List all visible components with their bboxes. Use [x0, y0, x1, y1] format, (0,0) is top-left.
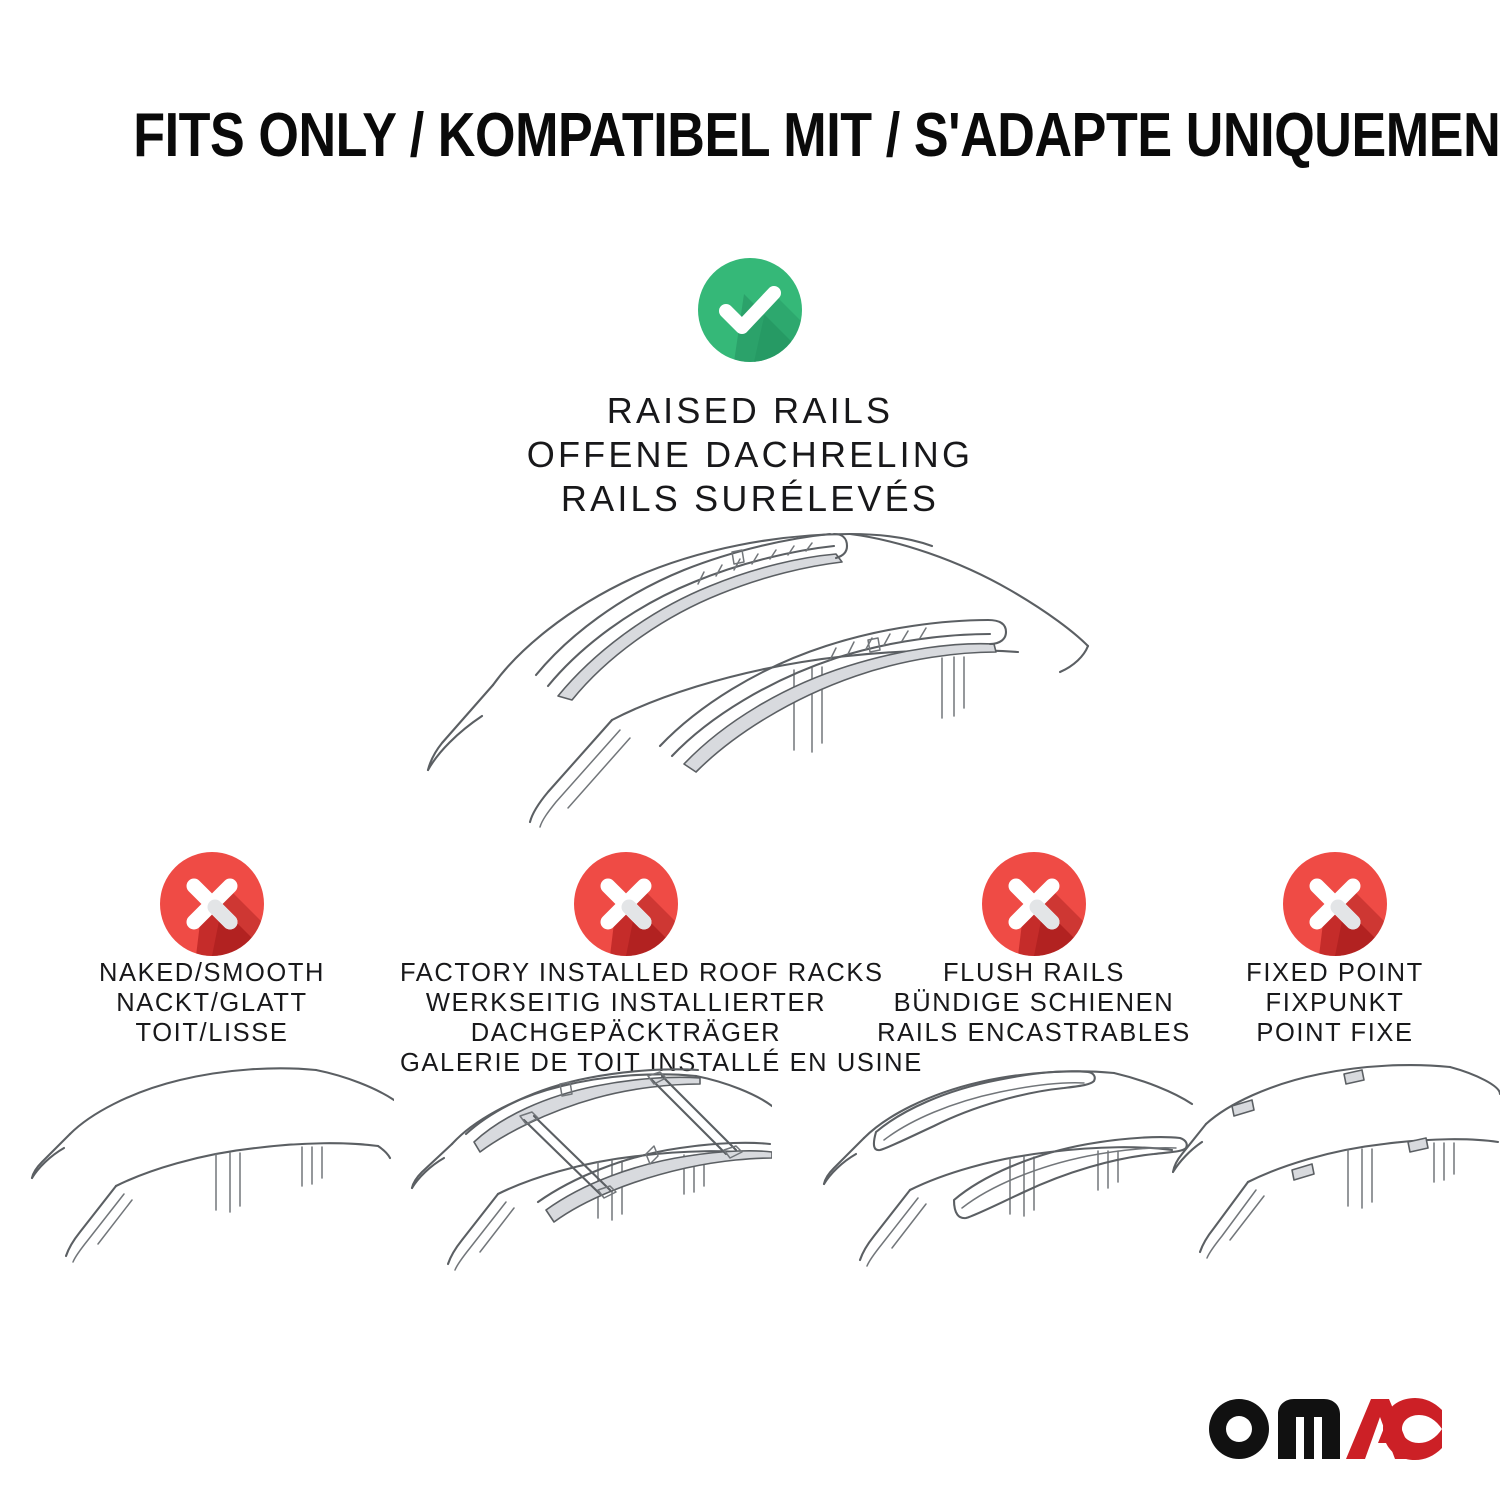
incompatible-item-fixed-point: FIXED POINT FIXPUNKT POINT FIXE — [1160, 852, 1500, 1048]
factory-racks-illustration — [408, 1058, 772, 1288]
omac-logo — [1206, 1396, 1442, 1462]
omac-logo-mark — [1206, 1396, 1442, 1462]
cross-mark-glyph — [982, 852, 1086, 956]
label-line: WERKSEITIG INSTALLIERTER — [400, 988, 852, 1018]
cross-circle-icon — [574, 852, 678, 956]
cross-icon-wrap-4 — [1160, 852, 1500, 948]
cross-mark-glyph — [160, 852, 264, 956]
label-line: FACTORY INSTALLED ROOF RACKS — [400, 958, 852, 988]
label-line: FIXED POINT — [1160, 958, 1500, 988]
label-line: NACKT/GLATT — [32, 988, 392, 1018]
cross-icon-wrap-1 — [32, 852, 392, 948]
label-line: NAKED/SMOOTH — [32, 958, 392, 988]
cross-icon-wrap-2 — [400, 852, 852, 948]
label-line: FIXPUNKT — [1160, 988, 1500, 1018]
page-title-text: FITS ONLY / KOMPATIBEL MIT / S'ADAPTE UN… — [133, 104, 1500, 168]
flush-rails-illustration — [812, 1058, 1212, 1288]
page-title: FITS ONLY / KOMPATIBEL MIT / S'ADAPTE UN… — [0, 104, 1500, 168]
cross-mark-glyph — [1283, 852, 1387, 956]
check-mark-glyph — [698, 258, 802, 362]
compatible-label-de: OFFENE DACHRELING — [0, 433, 1500, 477]
naked-smooth-illustration — [30, 1058, 394, 1288]
check-circle-icon — [698, 258, 802, 362]
raised-rails-illustration — [398, 500, 1102, 830]
cross-circle-icon — [982, 852, 1086, 956]
incompatible-label-naked-smooth: NAKED/SMOOTH NACKT/GLATT TOIT/LISSE — [32, 958, 392, 1048]
fixed-point-illustration — [1172, 1058, 1500, 1288]
incompatible-item-naked-smooth: NAKED/SMOOTH NACKT/GLATT TOIT/LISSE — [32, 852, 392, 1048]
cross-circle-icon — [160, 852, 264, 956]
cross-mark-glyph — [574, 852, 678, 956]
incompatible-label-fixed-point: FIXED POINT FIXPUNKT POINT FIXE — [1160, 958, 1500, 1048]
incompatible-item-factory-racks: FACTORY INSTALLED ROOF RACKS WERKSEITIG … — [400, 852, 852, 1078]
label-line: DACHGEPÄCKTRÄGER — [400, 1018, 852, 1048]
label-line: TOIT/LISSE — [32, 1018, 392, 1048]
compatible-label-en: RAISED RAILS — [0, 389, 1500, 433]
cross-circle-icon — [1283, 852, 1387, 956]
compatible-section: RAISED RAILS OFFENE DACHRELING RAILS SUR… — [0, 258, 1500, 521]
label-line: POINT FIXE — [1160, 1018, 1500, 1048]
